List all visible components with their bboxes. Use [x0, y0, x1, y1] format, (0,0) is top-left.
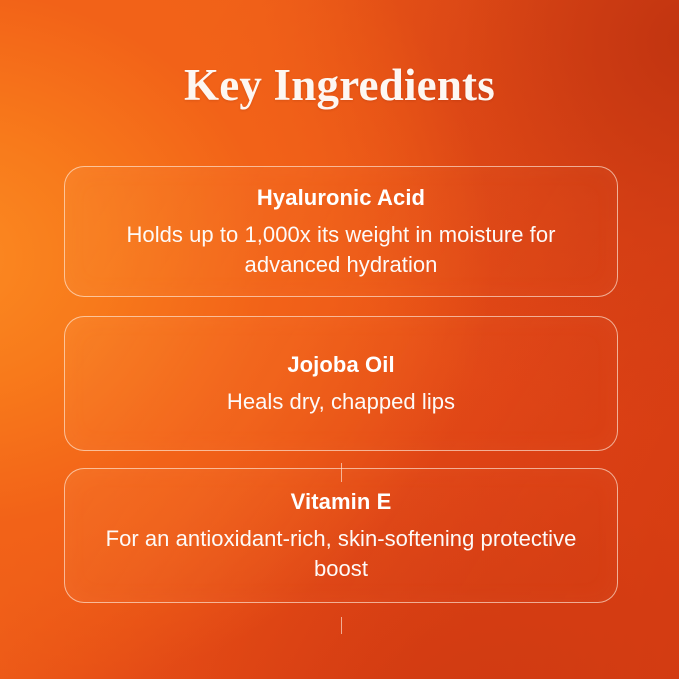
ingredient-name: Hyaluronic Acid [95, 184, 587, 211]
card-connector-line [341, 463, 342, 482]
ingredient-description: Holds up to 1,000x its weight in moistur… [95, 220, 587, 280]
ingredient-card-content: Jojoba Oil Heals dry, chapped lips [95, 351, 587, 417]
ingredient-description: Heals dry, chapped lips [95, 387, 587, 417]
ingredient-card: Jojoba Oil Heals dry, chapped lips [64, 316, 618, 451]
ingredient-card: Vitamin E For an antioxidant-rich, skin-… [64, 468, 618, 603]
ingredient-description: For an antioxidant-rich, skin-softening … [95, 524, 587, 584]
ingredient-name: Vitamin E [95, 488, 587, 515]
ingredient-card-list: Hyaluronic Acid Holds up to 1,000x its w… [64, 166, 618, 603]
card-connector-line [341, 617, 342, 634]
ingredient-name: Jojoba Oil [95, 351, 587, 378]
ingredient-card: Hyaluronic Acid Holds up to 1,000x its w… [64, 166, 618, 297]
ingredient-card-content: Hyaluronic Acid Holds up to 1,000x its w… [95, 184, 587, 280]
key-ingredients-poster: Key Ingredients Hyaluronic Acid Holds up… [0, 0, 679, 679]
page-title: Key Ingredients [0, 58, 679, 113]
ingredient-card-content: Vitamin E For an antioxidant-rich, skin-… [95, 488, 587, 584]
